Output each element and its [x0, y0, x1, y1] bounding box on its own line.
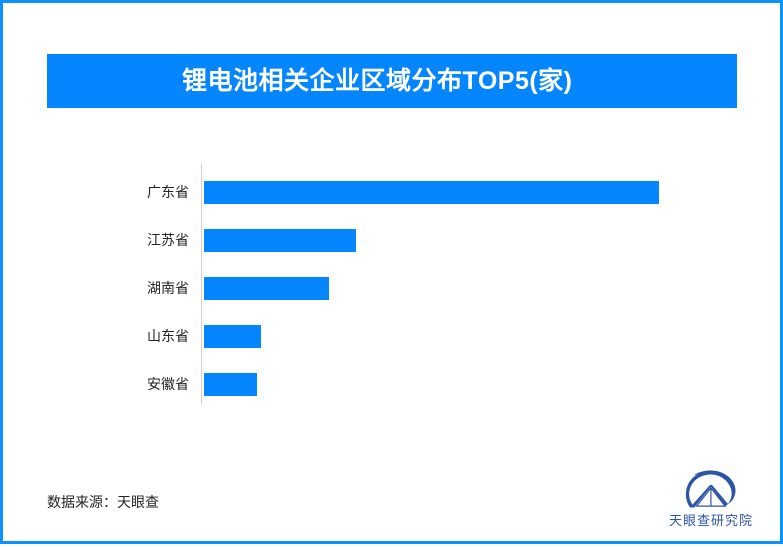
- bar-value-rect: [204, 181, 659, 204]
- infographic-canvas: 锂电池相关企业区域分布TOP5(家) 广东省 江苏省 湖南省 山东省 安徽省 数…: [0, 0, 783, 544]
- chart-bar-row: 江苏省: [3, 229, 783, 252]
- bar-category-label: 江苏省: [63, 229, 189, 252]
- bar-value-rect: [204, 373, 257, 396]
- chart-title-banner: 锂电池相关企业区域分布TOP5(家): [47, 54, 737, 108]
- tianyancha-eye-swoosh-icon: [684, 469, 738, 509]
- bar-value-rect: [204, 229, 356, 252]
- bar-category-label: 广东省: [63, 181, 189, 204]
- bar-category-label: 湖南省: [63, 277, 189, 300]
- bar-value-rect: [204, 277, 329, 300]
- page-title: 锂电池相关企业区域分布TOP5(家): [47, 69, 573, 94]
- chart-bar-row: 安徽省: [3, 373, 783, 396]
- brand-logo: 天眼查研究院: [651, 469, 771, 533]
- y-axis-line: [201, 164, 202, 404]
- data-source-note: 数据来源：天眼查: [47, 492, 159, 512]
- chart-bar-row: 湖南省: [3, 277, 783, 300]
- chart-bar-row: 广东省: [3, 181, 783, 204]
- bar-category-label: 安徽省: [63, 373, 189, 396]
- bar-value-rect: [204, 325, 261, 348]
- chart-bar-row: 山东省: [3, 325, 783, 348]
- bar-category-label: 山东省: [63, 325, 189, 348]
- brand-logo-text: 天眼查研究院: [669, 510, 753, 529]
